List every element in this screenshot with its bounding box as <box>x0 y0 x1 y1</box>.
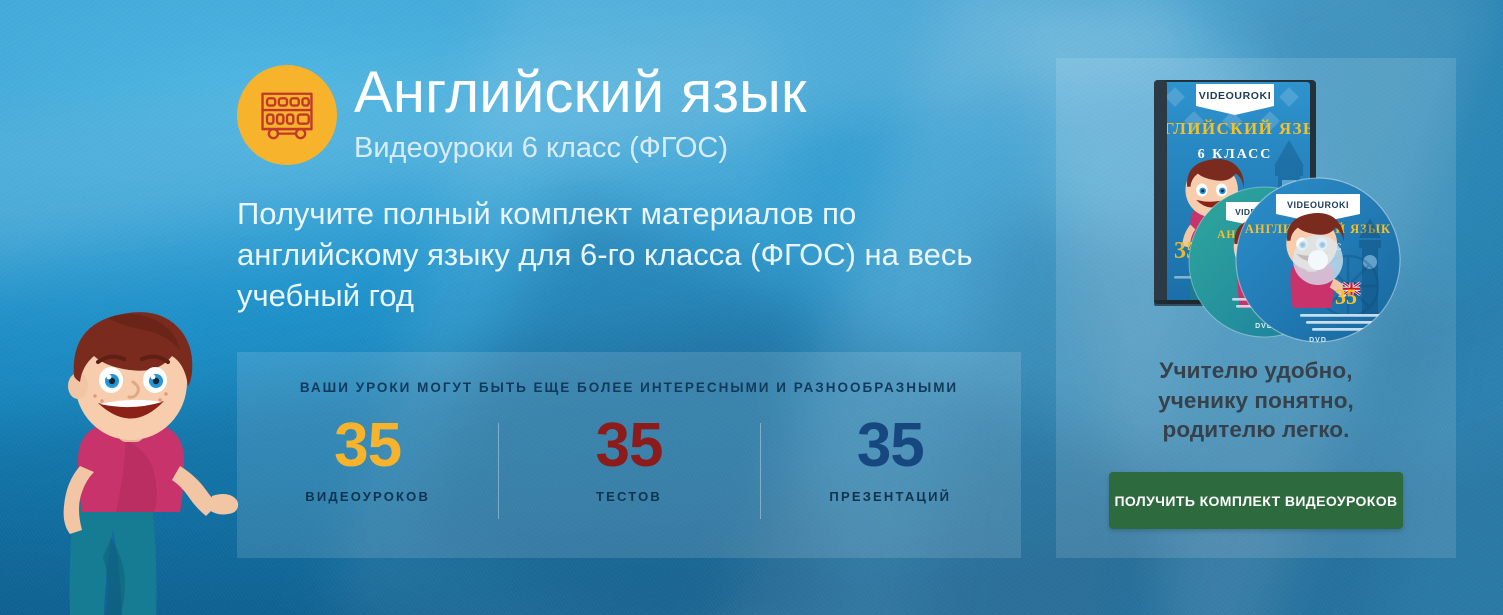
get-videolessons-button[interactable]: ПОЛУЧИТЬ КОМПЛЕКТ ВИДЕОУРОКОВ <box>1109 472 1403 529</box>
offer-tagline-line-2: ученику понятно, <box>1158 386 1354 416</box>
svg-text:6 КЛАСС: 6 КЛАСС <box>1198 147 1273 162</box>
offer-tagline: Учителю удобно, ученику понятно, родител… <box>1158 356 1354 445</box>
stat-value: 35 <box>857 415 924 477</box>
product-package-art: VIDEOUROKI АНГЛИЙСКИЙ ЯЗЫК 6 КЛАСС <box>1056 62 1456 352</box>
svg-text:35: 35 <box>1335 284 1357 309</box>
stat-value: 35 <box>334 415 401 477</box>
stat-label: ВИДЕОУРОКОВ <box>305 489 430 504</box>
svg-text:VIDEOUROKI: VIDEOUROKI <box>1287 200 1349 210</box>
dvd-package-illustration: VIDEOUROKI АНГЛИЙСКИЙ ЯЗЫК 6 КЛАСС <box>1056 62 1456 352</box>
schoolboy-illustration <box>16 290 246 615</box>
stat-label: ПРЕЗЕНТАЦИЙ <box>829 489 951 504</box>
stats-panel: ВАШИ УРОКИ МОГУТ БЫТЬ ЕЩЕ БОЛЕЕ ИНТЕРЕСН… <box>237 352 1021 558</box>
page-title: Английский язык <box>354 64 807 122</box>
offer-panel: VIDEOUROKI АНГЛИЙСКИЙ ЯЗЫК 6 КЛАСС <box>1056 58 1456 558</box>
stat-videolessons: 35 ВИДЕОУРОКОВ <box>237 415 498 535</box>
stat-value: 35 <box>596 415 663 477</box>
offer-tagline-line-1: Учителю удобно, <box>1158 356 1354 386</box>
cartoon-schoolboy-mascot <box>16 290 246 615</box>
course-subtitle: Видеоуроки 6 класс (ФГОС) <box>354 133 807 165</box>
double-decker-bus-icon <box>258 89 316 142</box>
stat-tests: 35 ТЕСТОВ <box>498 415 759 535</box>
svg-text:DVD: DVD <box>1309 337 1327 344</box>
course-description: Получите полный комплект материалов по а… <box>237 194 1007 317</box>
stat-presentations: 35 ПРЕЗЕНТАЦИЙ <box>760 415 1021 535</box>
stat-label: ТЕСТОВ <box>596 489 662 504</box>
svg-text:VIDEOUROKI: VIDEOUROKI <box>1199 90 1272 102</box>
offer-tagline-line-3: родителю легко. <box>1158 415 1354 445</box>
stats-caption: ВАШИ УРОКИ МОГУТ БЫТЬ ЕЩЕ БОЛЕЕ ИНТЕРЕСН… <box>237 352 1021 395</box>
stats-row: 35 ВИДЕОУРОКОВ 35 ТЕСТОВ 35 ПРЕЗЕНТАЦИЙ <box>237 415 1021 535</box>
course-header: Английский язык Видеоуроки 6 класс (ФГОС… <box>237 62 807 165</box>
subject-badge <box>237 65 337 165</box>
